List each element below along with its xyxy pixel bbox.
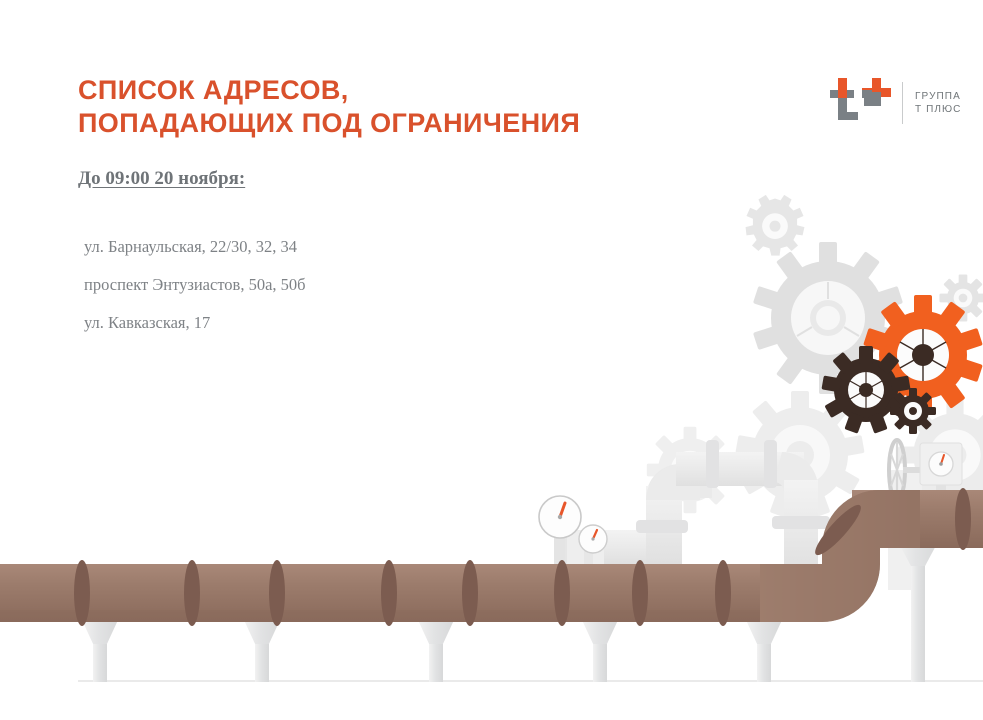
pipe-supports xyxy=(82,538,940,682)
valve-assembly xyxy=(889,440,962,500)
page-title-line-2: ПОПАДАЮЩИХ ПОД ОГРАНИЧЕНИЯ xyxy=(78,107,778,140)
main-pipeline xyxy=(0,488,983,682)
deadline-label: До 09:00 20 ноября: xyxy=(78,168,245,190)
brand-logo: ГРУППА Т ПЛЮС xyxy=(828,72,978,134)
address-list: ул. Барнаульская, 22/30, 32, 34 проспект… xyxy=(84,228,724,342)
slide-root: СПИСОК АДРЕСОВ, ПОПАДАЮЩИХ ПОД ОГРАНИЧЕН… xyxy=(0,0,983,720)
logo-divider xyxy=(902,82,903,124)
logo-wordmark-line-1: ГРУППА xyxy=(915,90,961,103)
address-list-item: ул. Кавказская, 17 xyxy=(84,304,724,342)
address-list-item: проспект Энтузиастов, 50а, 50б xyxy=(84,266,724,304)
background-pipework xyxy=(554,440,932,605)
accent-gears xyxy=(821,295,982,434)
logo-wordmark: ГРУППА Т ПЛЮС xyxy=(915,90,961,116)
page-title-line-1: СПИСОК АДРЕСОВ, xyxy=(78,74,778,107)
pressure-gauges xyxy=(532,496,607,576)
elbow-flange xyxy=(810,500,866,560)
address-list-item: ул. Барнаульская, 22/30, 32, 34 xyxy=(84,228,724,266)
pipe-flanges xyxy=(74,560,731,626)
t-plus-logo-icon xyxy=(828,76,894,130)
logo-wordmark-line-2: Т ПЛЮС xyxy=(915,103,961,116)
page-title: СПИСОК АДРЕСОВ, ПОПАДАЮЩИХ ПОД ОГРАНИЧЕН… xyxy=(78,74,778,140)
